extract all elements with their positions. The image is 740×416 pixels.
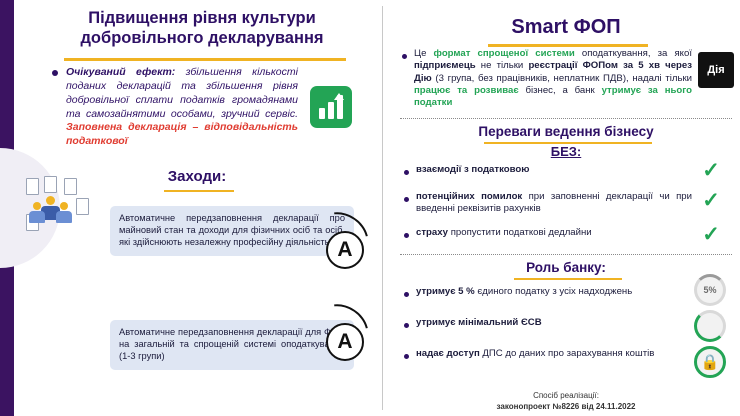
bank-3-bold: надає доступ: [416, 348, 480, 359]
intro-p2: оподаткування, за якої: [575, 48, 692, 59]
intro-p4: (3 група, без працівників, неплатник ПДВ…: [432, 73, 692, 84]
bank-3-rest: ДПС до даних про зарахування коштів: [480, 348, 655, 359]
person-head-2: [60, 202, 68, 210]
bank-2-marker: [404, 323, 409, 328]
bank-3-marker: [404, 354, 409, 359]
diya-badge: Дія: [698, 52, 734, 88]
slide: Підвищення рівня культури добровільного …: [0, 0, 740, 416]
benefit-2-bold: потенційних помилок: [416, 191, 522, 202]
bank-2-bold: утримує мінімальний ЄСВ: [416, 317, 542, 328]
check-icon-3: ✓: [700, 224, 722, 246]
benefit-3-bold: страху: [416, 227, 448, 238]
benefit-1-marker: [404, 170, 409, 175]
right-column: Smart ФОП Це формат спрощеної системи оп…: [392, 0, 740, 416]
intro-bullet-marker: [402, 54, 407, 59]
check-icon-2: ✓: [700, 190, 722, 212]
left-column: Підвищення рівня культури добровільного …: [14, 0, 380, 416]
half-ring-icon: [694, 310, 726, 342]
left-title: Підвищення рівня культури добровільного …: [32, 8, 372, 48]
left-title-line1: Підвищення рівня культури: [88, 9, 316, 27]
column-divider: [382, 6, 383, 410]
intro-b4: працює та розвиває: [414, 85, 519, 96]
effect-highlight: Заповнена декларація – відповідальність …: [66, 121, 298, 147]
bank-3-text: надає доступ ДПС до даних про зарахуванн…: [416, 348, 686, 360]
bank-1-text: утримує 5 % єдиного податку з усіх надхо…: [416, 286, 686, 298]
person-head-3: [33, 202, 41, 210]
right-title: Smart ФОП: [392, 16, 740, 39]
chart-bar-1: [319, 108, 325, 119]
intro-p5: бізнес, а банк: [519, 85, 602, 96]
left-bullet-block: Очікуваний ефект: збільшення кількості п…: [66, 66, 298, 149]
intro-b1: формат спрощеної системи: [434, 48, 575, 59]
benefit-1-text: взаємодії з податковою: [416, 164, 692, 176]
footer: Спосіб реалізації: законопроект №8226 ві…: [392, 391, 740, 412]
left-bullet-text: Очікуваний ефект: збільшення кількості п…: [66, 66, 298, 149]
marker-a-1: A: [326, 231, 364, 269]
percent-ring-icon: 5%: [694, 274, 726, 306]
chart-bar-2: [328, 102, 334, 119]
bank-role-underline: [514, 278, 622, 280]
benefit-1-bold: взаємодії з податковою: [416, 164, 529, 175]
benefits-heading: Переваги ведення бізнесу: [392, 124, 740, 139]
footer-line-1: Спосіб реалізації:: [392, 391, 740, 401]
benefit-3-marker: [404, 233, 409, 238]
marker-a-2: A: [326, 323, 364, 361]
measures-heading-underline: [164, 190, 234, 192]
chart-arrow-icon: [334, 93, 344, 100]
bez-label: БЕЗ:: [392, 144, 740, 159]
right-title-underline: [488, 44, 648, 47]
left-title-underline: [64, 58, 346, 61]
doc-4: [76, 198, 89, 215]
check-icon-1: ✓: [700, 160, 722, 182]
person-body-2: [56, 211, 72, 223]
effect-label: Очікуваний ефект:: [66, 66, 175, 78]
bank-role-heading: Роль банку:: [392, 260, 740, 275]
lock-icon: 🔒: [694, 346, 726, 378]
intro-p1: Це: [414, 48, 434, 59]
benefit-2-text: потенційних помилок при заповненні декла…: [416, 191, 692, 216]
footer-line-2: законопроект №8226 від 24.11.2022: [392, 402, 740, 412]
bar-chart-icon: [310, 86, 352, 128]
left-bullet-marker: [52, 70, 58, 76]
person-head-1: [46, 196, 55, 205]
bank-1-marker: [404, 292, 409, 297]
intro-p3: не тільки: [476, 60, 529, 71]
divider-dotted-1: [400, 118, 732, 119]
benefit-2-marker: [404, 197, 409, 202]
divider-dotted-2: [400, 254, 732, 255]
person-body-3: [29, 211, 45, 223]
benefit-3-text: страху пропустити податкові дедлайни: [416, 227, 692, 239]
benefit-3-rest: пропустити податкові дедлайни: [448, 227, 592, 238]
bank-2-text: утримує мінімальний ЄСВ: [416, 317, 686, 329]
measures-heading: Заходи:: [14, 168, 380, 185]
intro-b2: підприємець: [414, 60, 476, 71]
bank-1-bold: утримує 5 %: [416, 286, 475, 297]
intro-text: Це формат спрощеної системи оподаткуванн…: [414, 48, 692, 109]
left-title-line2: добровільного декларування: [80, 29, 323, 47]
bank-1-rest: єдиного податку з усіх надходжень: [475, 286, 632, 297]
